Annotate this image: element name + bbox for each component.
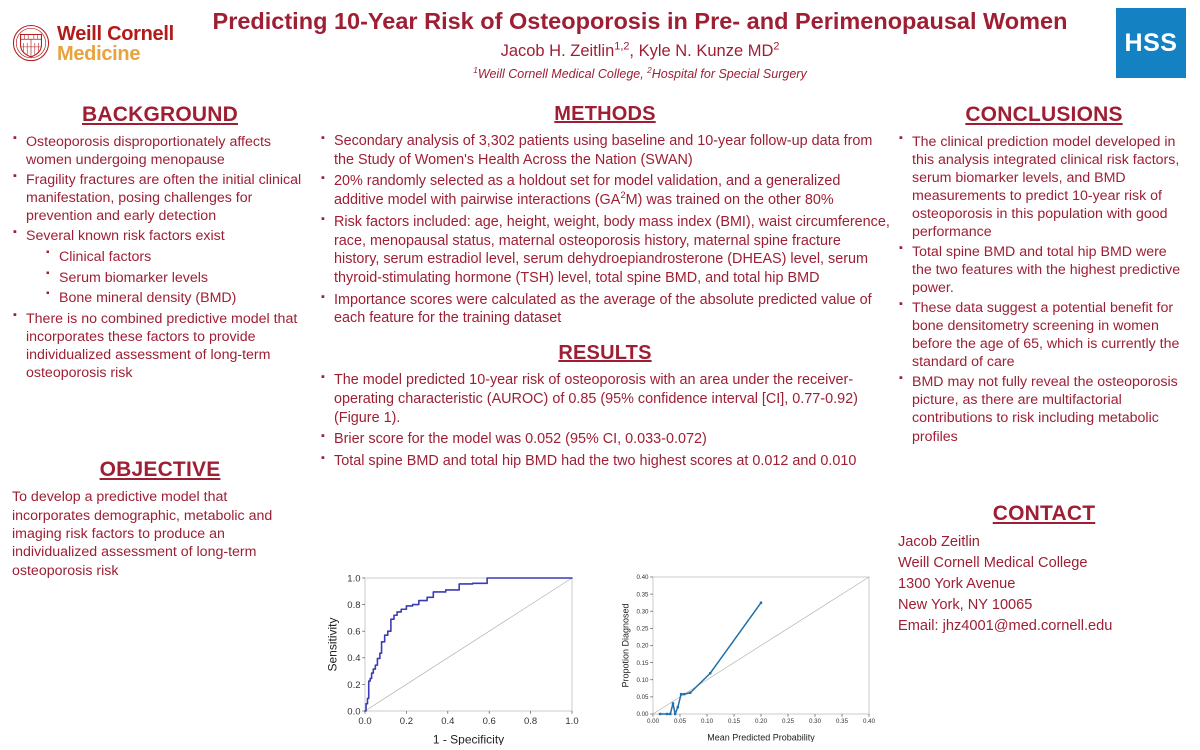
watermark <box>40 665 41 669</box>
svg-text:0.6: 0.6 <box>347 627 360 638</box>
svg-text:1 - Specificity: 1 - Specificity <box>433 733 504 746</box>
author-list: Jacob H. Zeitlin1,2, Kyle N. Kunze MD2 <box>190 42 1090 61</box>
list-item: Osteoporosis disproportionately affects … <box>12 133 308 169</box>
svg-text:0.20: 0.20 <box>755 718 768 725</box>
list-item: Brier score for the model was 0.052 (95%… <box>320 430 890 449</box>
methods-bullet-2-text: 20% randomly selected as a holdout set f… <box>334 173 840 208</box>
svg-text:1.0: 1.0 <box>347 573 360 584</box>
svg-text:0.00: 0.00 <box>636 711 649 718</box>
list-item: Fragility fractures are often the initia… <box>12 171 308 225</box>
background-bullet-list: Osteoporosis disproportionately affects … <box>12 133 308 245</box>
list-item: Total spine BMD and total hip BMD had th… <box>320 452 890 471</box>
svg-text:0.8: 0.8 <box>524 716 537 727</box>
column-right: CONCLUSIONS The clinical prediction mode… <box>898 95 1190 637</box>
objective-text: To develop a predictive model that incor… <box>12 488 308 580</box>
svg-text:0.2: 0.2 <box>347 680 360 691</box>
list-item: 20% randomly selected as a holdout set f… <box>320 172 890 209</box>
list-item: BMD may not fully reveal the osteoporosi… <box>898 373 1190 445</box>
section-heading-contact: CONTACT <box>898 502 1190 526</box>
cornell-shield-icon <box>12 24 50 64</box>
svg-text:0.4: 0.4 <box>347 653 360 664</box>
list-item: These data suggest a potential benefit f… <box>898 299 1190 371</box>
list-item: Serum biomarker levels <box>46 268 308 289</box>
section-heading-conclusions: CONCLUSIONS <box>898 103 1190 127</box>
contact-section: CONTACT Jacob Zeitlin Weill Cornell Medi… <box>898 502 1190 638</box>
contact-name: Jacob Zeitlin <box>898 532 1190 553</box>
svg-text:Sensitivity: Sensitivity <box>325 617 339 671</box>
svg-text:0.0: 0.0 <box>358 716 371 727</box>
svg-text:0.25: 0.25 <box>782 718 795 725</box>
figure-calibration: 0.000.050.100.150.200.250.300.350.400.00… <box>620 570 875 747</box>
poster-root: Weill Cornell Medicine Predicting 10-Yea… <box>0 0 1200 675</box>
list-item: Several known risk factors exist <box>12 227 308 245</box>
contact-email: Email: jhz4001@med.cornell.edu <box>898 616 1190 637</box>
svg-text:0.15: 0.15 <box>636 660 649 667</box>
svg-text:1.0: 1.0 <box>565 716 578 727</box>
background-sub-bullet-list: Clinical factors Serum biomarker levels … <box>12 247 308 309</box>
list-item: Secondary analysis of 3,302 patients usi… <box>320 132 890 169</box>
figures-area: 0.00.20.40.60.81.00.00.20.40.60.81.01 - … <box>320 570 890 675</box>
list-item: Bone mineral density (BMD) <box>46 288 308 309</box>
list-item: There is no combined predictive model th… <box>12 310 308 382</box>
contact-institution: Weill Cornell Medical College <box>898 553 1190 574</box>
svg-text:0.0: 0.0 <box>347 706 360 717</box>
weill-cornell-wordmark-line2: Medicine <box>57 44 174 64</box>
list-item: The model predicted 10-year risk of oste… <box>320 371 890 427</box>
background-bullet-list-cont: There is no combined predictive model th… <box>12 310 308 382</box>
svg-text:0.00: 0.00 <box>647 718 660 725</box>
section-heading-background: BACKGROUND <box>12 103 308 127</box>
svg-text:0.40: 0.40 <box>863 718 875 725</box>
list-item: Total spine BMD and total hip BMD were t… <box>898 243 1190 297</box>
svg-text:0.2: 0.2 <box>400 716 413 727</box>
results-bullet-list: The model predicted 10-year risk of oste… <box>320 371 890 471</box>
list-item: The clinical prediction model developed … <box>898 133 1190 241</box>
affiliations: 1Weill Cornell Medical College, 2Hospita… <box>190 67 1090 81</box>
svg-text:0.6: 0.6 <box>483 716 496 727</box>
svg-text:0.8: 0.8 <box>347 600 360 611</box>
svg-text:0.10: 0.10 <box>636 677 649 684</box>
objective-section: OBJECTIVE To develop a predictive model … <box>12 458 308 580</box>
section-heading-results: RESULTS <box>320 342 890 365</box>
contact-street: 1300 York Avenue <box>898 574 1190 595</box>
svg-text:0.30: 0.30 <box>636 608 649 615</box>
list-item: Risk factors included: age, height, weig… <box>320 213 890 288</box>
contact-city: New York, NY 10065 <box>898 595 1190 616</box>
svg-text:0.10: 0.10 <box>701 718 714 725</box>
figure-roc: 0.00.20.40.60.81.00.00.20.40.60.81.01 - … <box>325 570 580 750</box>
poster-header: Weill Cornell Medicine Predicting 10-Yea… <box>0 0 1200 95</box>
svg-text:0.05: 0.05 <box>636 694 649 701</box>
list-item: Importance scores were calculated as the… <box>320 291 890 328</box>
svg-text:0.25: 0.25 <box>636 626 649 633</box>
methods-bullet-list: Secondary analysis of 3,302 patients usi… <box>320 132 890 328</box>
column-middle: METHODS Secondary analysis of 3,302 pati… <box>320 95 890 474</box>
svg-text:0.20: 0.20 <box>636 643 649 650</box>
svg-text:0.30: 0.30 <box>809 718 822 725</box>
svg-text:0.05: 0.05 <box>674 718 687 725</box>
conclusions-bullet-list: The clinical prediction model developed … <box>898 133 1190 446</box>
section-heading-objective: OBJECTIVE <box>12 458 308 482</box>
list-item: Clinical factors <box>46 247 308 268</box>
hss-logo: HSS <box>1116 8 1186 78</box>
column-left: BACKGROUND Osteoporosis disproportionate… <box>12 95 308 580</box>
weill-cornell-wordmark-line1: Weill Cornell <box>57 24 174 44</box>
svg-text:0.40: 0.40 <box>636 574 649 581</box>
weill-cornell-logo: Weill Cornell Medicine <box>12 24 174 64</box>
section-heading-methods: METHODS <box>320 103 890 126</box>
svg-text:0.4: 0.4 <box>441 716 454 727</box>
poster-title: Predicting 10-Year Risk of Osteoporosis … <box>190 8 1090 35</box>
svg-text:0.35: 0.35 <box>836 718 849 725</box>
svg-text:0.15: 0.15 <box>728 718 741 725</box>
svg-text:0.35: 0.35 <box>636 591 649 598</box>
svg-text:Mean Predicted Probability: Mean Predicted Probability <box>707 733 815 743</box>
hss-logo-text: HSS <box>1125 29 1178 58</box>
